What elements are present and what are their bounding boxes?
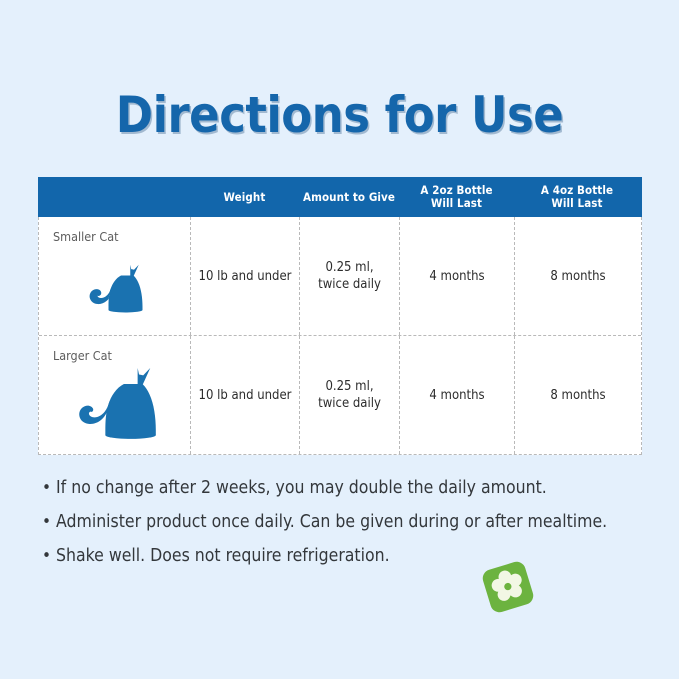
list-item: • Shake well. Does not require refrigera… [42,546,652,567]
amount-line-1: 0.25 ml, [318,378,381,395]
table-header-row: Weight Amount to Give A 2oz Bottle Will … [38,177,642,217]
table-header-bottle-2oz-line2: Will Last [401,197,512,210]
table-row: Smaller Cat 10 lb and under [39,217,641,335]
page-title: Directions for Use [0,86,679,144]
bullet-icon: • [42,478,51,499]
list-item: • Administer product once daily. Can be … [42,512,652,533]
table-header-weight: Weight [190,191,299,204]
table-cell-amount: 0.25 ml, twice daily [300,217,400,335]
table-cell-weight: 10 lb and under [191,217,300,335]
notes-list: • If no change after 2 weeks, you may do… [42,478,652,580]
table-cell-bottle-2oz: 4 months [400,217,515,335]
table-header-bottle-2oz: A 2oz Bottle Will Last [399,184,514,210]
table-header-amount: Amount to Give [299,191,399,204]
amount-line-1: 0.25 ml, [318,259,381,276]
table-cell-weight: 10 lb and under [191,336,300,454]
bullet-icon: • [42,512,51,533]
list-item-text: Shake well. Does not require refrigerati… [56,546,652,567]
small-cat-icon [39,249,190,329]
directions-for-use-page: Directions for Use Weight Amount to Give… [0,0,679,679]
list-item-text: If no change after 2 weeks, you may doub… [56,478,652,499]
table-body: Smaller Cat 10 lb and under [38,217,642,455]
table-header-weight-label: Weight [224,190,266,204]
table-header-amount-label: Amount to Give [303,190,395,204]
table-cell-bottle-2oz: 4 months [400,336,515,454]
list-item-text: Administer product once daily. Can be gi… [56,512,652,533]
large-cat-icon [39,356,190,452]
amount-line-2: twice daily [318,276,381,293]
table-header-bottle-4oz-line2: Will Last [516,197,638,210]
table-cell-bottle-4oz: 8 months [515,336,641,454]
table-cell-animal: Smaller Cat [39,217,191,335]
table-cell-bottle-4oz: 8 months [515,217,641,335]
list-item: • If no change after 2 weeks, you may do… [42,478,652,499]
dosage-table: Weight Amount to Give A 2oz Bottle Will … [38,177,642,455]
green-flower-badge-icon [479,558,537,616]
animal-label: Smaller Cat [53,228,119,245]
bullet-icon: • [42,546,51,567]
table-cell-animal: Larger Cat [39,336,191,454]
table-cell-amount: 0.25 ml, twice daily [300,336,400,454]
amount-line-2: twice daily [318,395,381,412]
table-header-bottle-4oz: A 4oz Bottle Will Last [514,184,640,210]
table-row: Larger Cat 10 lb and under [39,335,641,454]
